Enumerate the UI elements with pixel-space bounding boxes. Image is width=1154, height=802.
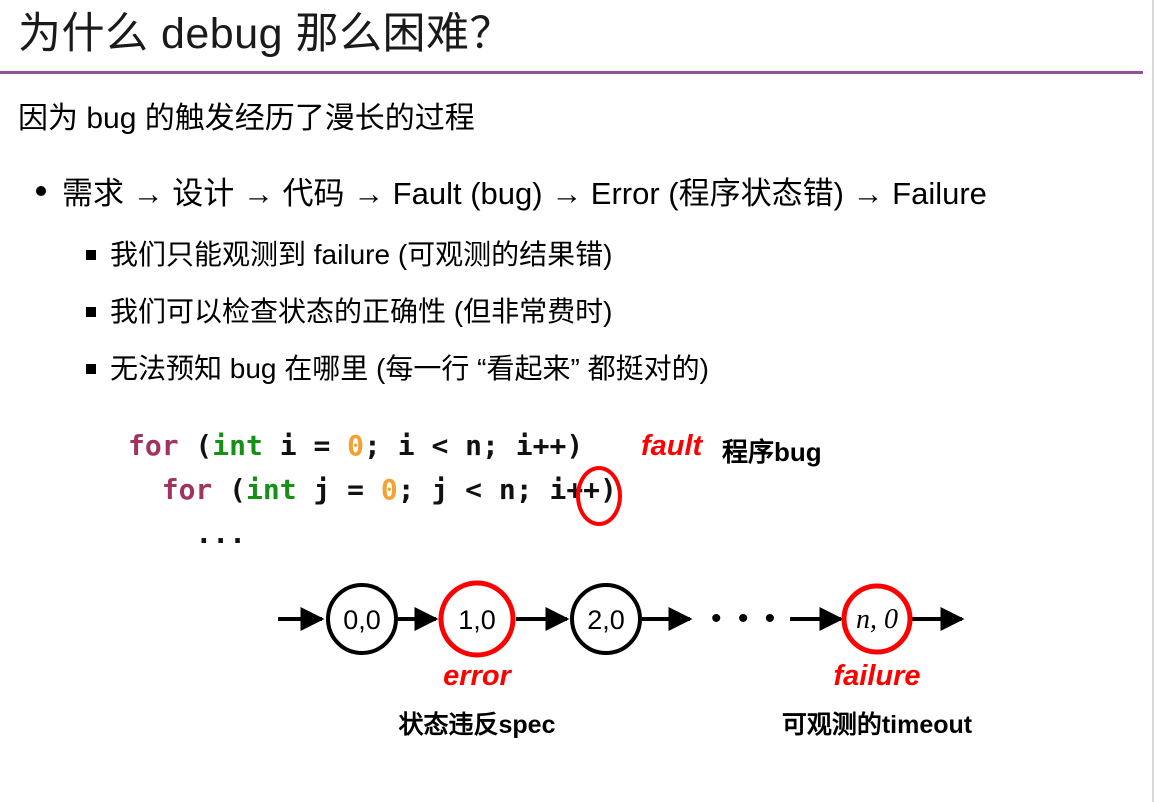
- error-annotation: error: [397, 660, 557, 693]
- code-line2-indent: [128, 473, 162, 506]
- state-node-label-0: 0,0: [322, 605, 402, 636]
- state-node-label-2: 2,0: [566, 605, 646, 636]
- state-node-label-n: n, 0: [837, 604, 917, 636]
- bullet-level1: 需求 → 设计 → 代码 → Fault (bug) → Error (程序状态…: [36, 173, 987, 215]
- intro-text: 因为 bug 的触发经历了漫长的过程: [18, 99, 475, 139]
- code-type-int: int: [212, 429, 263, 462]
- error-caption: 状态违反spec: [377, 705, 577, 741]
- code-line2-open: (: [212, 473, 246, 506]
- page-title: 为什么 debug 那么困难？: [18, 6, 513, 62]
- code-line1-tail: ; i < n; i++): [364, 429, 583, 462]
- bullet-square-icon: [86, 307, 96, 317]
- state-node-label-1: 1,0: [437, 605, 517, 636]
- code-number-zero: 0: [381, 473, 398, 506]
- highlight-ellipse: [576, 466, 622, 526]
- bullet-level2-label: 无法预知 bug 在哪里 (每一行 “看起来” 都挺对的): [110, 353, 709, 384]
- title-divider: [0, 71, 1143, 74]
- code-line3-ellipsis: ...: [128, 517, 246, 550]
- diagram-ellipsis: • • •: [711, 602, 779, 636]
- bullet-square-icon: [86, 250, 96, 260]
- bullet-level1-label: 需求 → 设计 → 代码 → Fault (bug) → Error (程序状态…: [62, 176, 987, 211]
- fault-annotation: fault: [641, 430, 702, 463]
- state-diagram: 0,0 1,0 2,0 n, 0 • • • error 状态违反spec fa…: [0, 560, 1154, 760]
- bullet-level2-item: 我们只能观测到 failure (可观测的结果错): [86, 236, 612, 274]
- bullet-level2-item: 我们可以检查状态的正确性 (但非常费时): [86, 293, 612, 331]
- code-keyword-for: for: [128, 429, 179, 462]
- fault-annotation-note: 程序bug: [722, 432, 822, 469]
- code-line2-mid: j =: [297, 473, 381, 506]
- failure-caption: 可观测的timeout: [762, 705, 992, 741]
- code-type-int: int: [246, 473, 297, 506]
- bullet-square-icon: [86, 364, 96, 374]
- bullet-level2-label: 我们可以检查状态的正确性 (但非常费时): [110, 296, 612, 327]
- code-keyword-for: for: [162, 473, 213, 506]
- bullet-level2-label: 我们只能观测到 failure (可观测的结果错): [110, 239, 612, 270]
- failure-annotation: failure: [797, 660, 957, 693]
- code-line1-mid: i =: [263, 429, 347, 462]
- bullet-level2-item: 无法预知 bug 在哪里 (每一行 “看起来” 都挺对的): [86, 350, 709, 388]
- code-block: for (int i = 0; i < n; i++) for (int j =…: [128, 424, 617, 556]
- bullet-dot-icon: [36, 186, 46, 196]
- slide-canvas: 为什么 debug 那么困难？ 因为 bug 的触发经历了漫长的过程 需求 → …: [0, 0, 1154, 802]
- code-number-zero: 0: [347, 429, 364, 462]
- code-line1-open: (: [179, 429, 213, 462]
